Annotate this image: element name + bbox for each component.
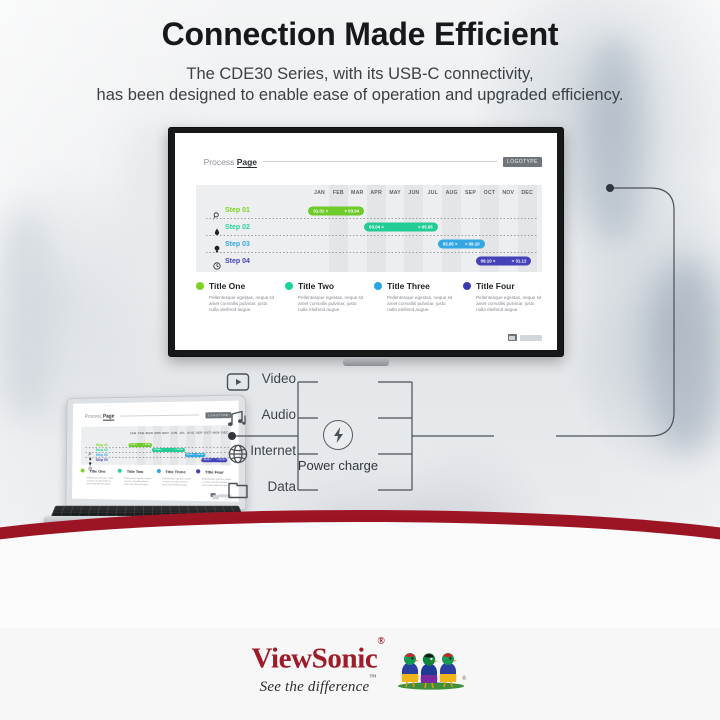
gantt-step-4: Step 04: [213, 257, 250, 265]
gantt-chart: JAN FEB MAR APR MAY JUN JUL AUG SEP OCT …: [81, 425, 232, 465]
gantt-bar-end-label: > 31.12: [512, 259, 527, 264]
gantt-bar: 01.01 <> 03.04: [128, 443, 152, 447]
registered-mark: ®: [377, 636, 384, 647]
subtitle-line-1: The CDE30 Series, with its USB-C connect…: [0, 64, 720, 85]
month-label: NOV: [499, 190, 518, 201]
music-notes-icon: [226, 407, 250, 429]
slide-footer-badge: [508, 334, 542, 341]
legend-title: Title One: [209, 281, 245, 291]
gantt-step-label: Step 01: [96, 443, 108, 447]
month-label: NOV: [212, 430, 221, 441]
month-label: OCT: [480, 190, 499, 201]
power-charge-node: Power charge: [278, 420, 398, 473]
slide-header: Process Page LOGOTYPE: [85, 412, 232, 420]
gantt-step-1: Step 01: [88, 443, 108, 447]
slide-header: Process Page LOGOTYPE: [204, 157, 542, 167]
gantt-row: Step 0305.05 <> 09.10: [196, 236, 537, 253]
legend-title: Title Four: [476, 281, 515, 291]
legend-title: Title Three: [387, 281, 430, 291]
gantt-bar-start-label: 03.04 <: [369, 225, 384, 230]
month-label: SEP: [195, 430, 203, 441]
gantt-bar-start-label: 05.05 <: [187, 454, 194, 456]
gantt-bar-end-label: > 09.10: [465, 242, 480, 247]
subtitle-line-2: has been designed to enable ease of oper…: [0, 85, 720, 106]
gantt-bar-start-label: 01.01 <: [130, 444, 137, 446]
gantt-step-1: Step 01: [213, 207, 250, 215]
legend-body: Pellentesque egestas, neque sit amet con…: [298, 295, 364, 314]
gantt-bar-end-label: > 05.05: [175, 449, 182, 451]
gantt-bar-start-label: 03.04 <: [154, 449, 161, 451]
gantt-bar-start-label: 09.10 <: [481, 259, 496, 264]
legend-dot: [285, 282, 293, 290]
legend-item-4: Title FourPellentesque egestas, neque si…: [463, 281, 542, 314]
gantt-bar: 09.10 <> 31.12: [201, 458, 226, 462]
gantt-step-label: Step 02: [225, 224, 250, 231]
month-label: JAN: [310, 190, 329, 201]
gantt-row: Step 0203.04 <> 05.05: [196, 219, 537, 236]
month-label: JUL: [178, 430, 186, 441]
month-label: MAY: [162, 430, 170, 441]
gantt-step-label: Step 04: [96, 458, 108, 462]
month-label: FEB: [137, 431, 145, 442]
month-label: AUG: [442, 190, 461, 201]
gantt-month-axis: JAN FEB MAR APR MAY JUN JUL AUG SEP OCT …: [310, 190, 536, 201]
month-label: JUL: [423, 190, 442, 201]
gantt-step-label: Step 03: [96, 453, 108, 457]
gantt-month-axis: JAN FEB MAR APR MAY JUN JUL AUG SEP OCT …: [129, 430, 229, 442]
legend-item-2: Title TwoPellentesque egestas, neque sit…: [285, 281, 364, 314]
power-charge-circle: [323, 420, 353, 450]
legend-body: Pellentesque egestas, neque sit amet con…: [387, 295, 453, 314]
month-label: MAR: [348, 190, 367, 201]
gantt-step-3: Step 03: [88, 453, 108, 457]
gantt-bar: 09.10 <> 31.12: [476, 257, 532, 266]
month-label: OCT: [203, 430, 212, 441]
brand-logo: ViewSonic® See the difference™: [0, 640, 720, 696]
background-blur-shape: [0, 210, 54, 420]
legend-dot: [463, 282, 471, 290]
gouldian-finches-icon: ®: [394, 646, 468, 690]
month-label: MAY: [386, 190, 405, 201]
gantt-step-3: Step 03: [213, 240, 250, 248]
tv-connector-dot: [606, 184, 614, 192]
gantt-rows: Step 0101.01 <> 03.04Step 0203.04 <> 05.…: [81, 442, 229, 463]
month-label: APR: [153, 430, 161, 441]
month-label: JUN: [170, 430, 178, 441]
laptop-connector-dot: [228, 432, 236, 440]
month-label: SEP: [461, 190, 480, 201]
header-rule: [120, 415, 199, 417]
gantt-bar-end-label: > 05.05: [418, 225, 433, 230]
footer-icon: [508, 334, 517, 341]
gantt-step-2: Step 02: [88, 448, 108, 452]
gantt-step-2: Step 02: [213, 223, 250, 231]
gantt-bar-end-label: > 09.10: [196, 454, 204, 456]
svg-text:®: ®: [462, 675, 467, 682]
slide-content: Process Page LOGOTYPE JAN FEB MAR APR MA…: [175, 133, 557, 350]
gantt-bar: 03.04 <> 05.05: [364, 223, 438, 232]
display-monitor: Process Page LOGOTYPE JAN FEB MAR APR MA…: [168, 127, 564, 357]
slide-legend: Title OnePellentesque egestas, neque sit…: [196, 281, 542, 314]
gantt-step-4: Step 04: [88, 458, 108, 462]
gantt-bar-start-label: 09.10 <: [204, 459, 212, 461]
page-subtitle: The CDE30 Series, with its USB-C connect…: [0, 64, 720, 106]
legend-body: Pellentesque egestas, neque sit amet con…: [476, 295, 542, 314]
legend-dot: [196, 282, 204, 290]
gantt-step-label: Step 04: [225, 258, 250, 265]
month-label: JAN: [129, 431, 137, 442]
gantt-bar: 05.05 <> 09.10: [438, 240, 485, 249]
gantt-bar-start-label: 01.01 <: [313, 208, 328, 213]
gantt-bar-end-label: > 03.04: [344, 208, 359, 213]
gantt-bar-end-label: > 31.12: [217, 459, 225, 461]
gantt-bar: 01.01 <> 03.04: [308, 206, 364, 215]
gantt-step-label: Step 02: [96, 448, 108, 452]
gantt-bar-start-label: 05.05 <: [443, 242, 458, 247]
legend-title: Title Two: [298, 281, 334, 291]
brand-tagline: See the difference™: [252, 674, 385, 696]
legend-item-3: Title ThreePellentesque egestas, neque s…: [374, 281, 453, 314]
header-rule: [263, 161, 497, 162]
brand-name: ViewSonic®: [252, 640, 385, 674]
legend-body: Pellentesque egestas, neque sit amet con…: [209, 295, 275, 314]
io-row-video: Video: [226, 371, 296, 386]
slide-header-title: Process Page: [85, 413, 115, 419]
month-label: APR: [367, 190, 386, 201]
gantt-row: Step 0409.10 <> 31.12: [196, 253, 537, 270]
page-title: Connection Made Efficient: [0, 16, 720, 53]
gantt-bar-end-label: > 03.04: [143, 444, 150, 446]
month-label: DEC: [518, 190, 537, 201]
month-label: MAR: [145, 431, 153, 442]
trademark-mark: ™: [369, 673, 376, 681]
gantt-row: Step 0409.10 <> 31.12: [81, 458, 229, 464]
promo-banner: Connection Made Efficient The CDE30 Seri…: [0, 0, 720, 720]
gantt-chart: JAN FEB MAR APR MAY JUN JUL AUG SEP OCT …: [196, 185, 542, 272]
month-label: AUG: [187, 430, 195, 441]
brand-logo-text: ViewSonic® See the difference™: [252, 640, 385, 696]
month-label: JUN: [404, 190, 423, 201]
monitor-screen: Process Page LOGOTYPE JAN FEB MAR APR MA…: [175, 133, 557, 350]
gantt-step-label: Step 03: [225, 241, 250, 248]
gantt-row: Step 0101.01 <> 03.04: [196, 202, 537, 219]
legend-dot: [374, 282, 382, 290]
globe-icon: [226, 443, 250, 465]
gantt-rows: Step 0101.01 <> 03.04Step 0203.04 <> 05.…: [196, 202, 537, 270]
month-label: FEB: [329, 190, 348, 201]
logotype-badge: LOGOTYPE: [503, 157, 542, 167]
clock-icon: [213, 262, 221, 270]
gantt-bar: 05.05 <> 09.10: [185, 453, 206, 457]
footer-bar: [520, 335, 542, 341]
slide-header-title: Process Page: [204, 157, 257, 167]
gantt-step-label: Step 01: [225, 207, 250, 214]
lightning-bolt-icon: [331, 426, 346, 444]
gantt-bar: 03.04 <> 05.05: [152, 448, 184, 452]
play-video-icon: [226, 371, 250, 393]
legend-item-1: Title OnePellentesque egestas, neque sit…: [196, 281, 275, 314]
